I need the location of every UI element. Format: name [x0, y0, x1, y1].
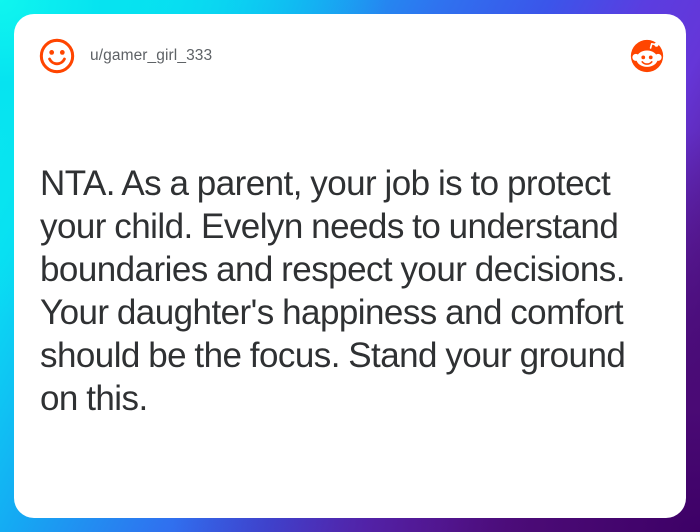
- card-header: u/gamer_girl_333: [14, 14, 686, 98]
- smiley-face-avatar-icon: [38, 37, 76, 75]
- comment-body: NTA. As a parent, your job is to protect…: [40, 162, 664, 420]
- comment-text: NTA. As a parent, your job is to protect…: [40, 162, 664, 420]
- username-label[interactable]: u/gamer_girl_333: [90, 47, 212, 65]
- reddit-snoo-logo-icon: [630, 39, 664, 73]
- reddit-comment-card: u/gamer_girl_333 NTA. As a pare: [14, 14, 686, 518]
